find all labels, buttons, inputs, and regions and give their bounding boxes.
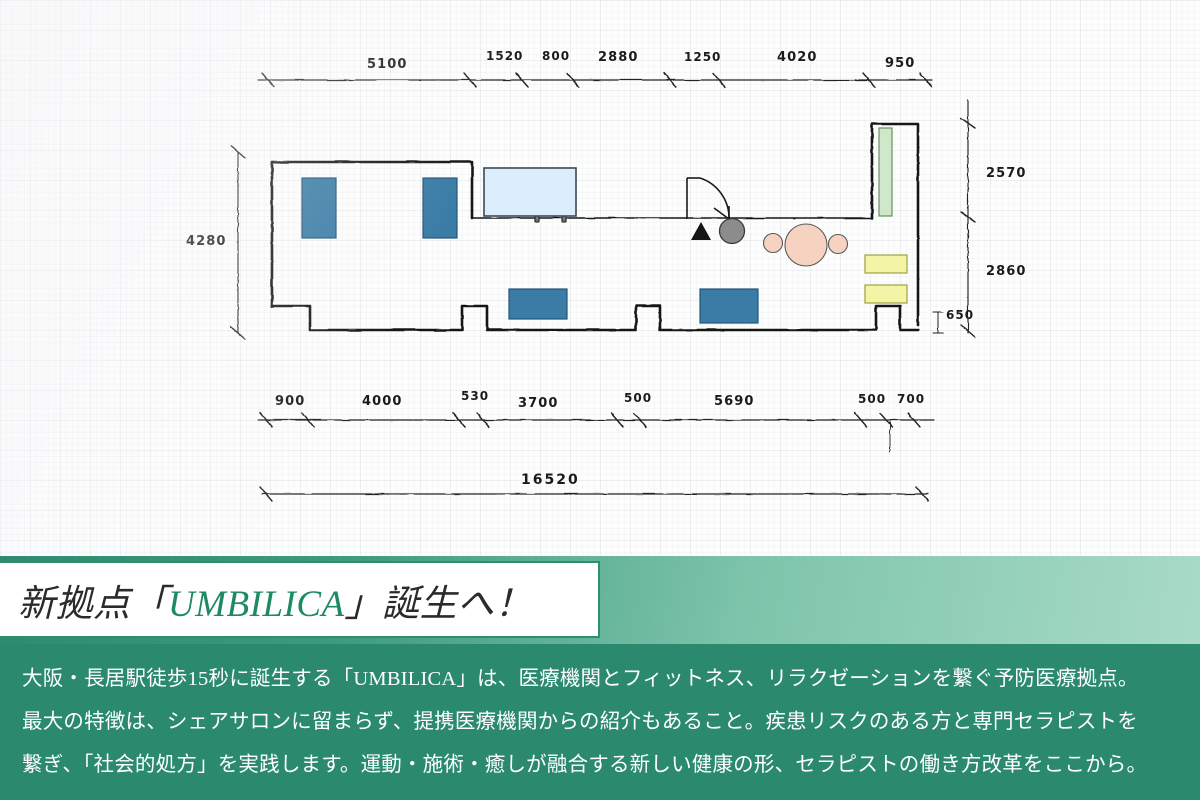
- fixture-blue-2: [423, 178, 457, 238]
- fixture-yellow-2: [865, 285, 907, 303]
- page-title: 新拠点「UMBILICA」誕生へ！: [0, 573, 532, 627]
- description-line-1: 大阪・長居駅徒歩15秒に誕生する「UMBILICA」は、医療機関とフィットネス、…: [22, 658, 1178, 701]
- dim-overall-16520: 16520: [521, 472, 580, 488]
- triangle-marker-icon: [691, 222, 711, 240]
- dim-bottom-4000: 4000: [362, 394, 403, 409]
- dim-left-4280: 4280: [186, 234, 227, 249]
- fixture-glass-counter: [484, 168, 576, 216]
- dim-right-2860: 2860: [986, 264, 1027, 279]
- description-line-2: 最大の特徴は、シェアサロンに留まらず、提携医療機関からの紹介もあること。疾患リス…: [22, 701, 1178, 744]
- right-dimension-line: [933, 100, 975, 337]
- headline-prefix: 新拠点「: [18, 584, 168, 625]
- dim-top-1250: 1250: [684, 50, 721, 64]
- fixture-peach-left: [764, 234, 783, 253]
- wall-outline: [272, 124, 918, 330]
- dim-bottom-900: 900: [275, 394, 305, 409]
- left-dimension-line: [231, 146, 245, 339]
- description-line-3: 繋ぎ、「社会的処方」を実践します。運動・施術・癒しが融合する新しい健康の形、セラ…: [22, 744, 1178, 787]
- description-band: 大阪・長居駅徒歩15秒に誕生する「UMBILICA」は、医療機関とフィットネス、…: [0, 644, 1200, 800]
- bottom-dimension-line: [258, 413, 934, 452]
- promotional-graphic: 5100 1520 800 2880 1250 4020 950 900 400…: [0, 0, 1200, 800]
- dim-top-2880: 2880: [598, 50, 639, 65]
- dim-right-2570: 2570: [986, 166, 1027, 181]
- fixture-yellow-1: [865, 255, 907, 273]
- dim-top-800: 800: [542, 49, 570, 63]
- dim-top-4020: 4020: [777, 50, 818, 65]
- dim-bottom-700: 700: [897, 392, 925, 406]
- door-swing-icon: [687, 178, 729, 219]
- fixture-blue-1: [302, 178, 336, 238]
- dim-right-650: 650: [946, 308, 974, 322]
- dim-top-5100: 5100: [367, 57, 408, 72]
- headline-suffix: 」誕生へ！: [345, 584, 533, 625]
- dim-bottom-5690: 5690: [714, 394, 755, 409]
- fixture-peach-right: [829, 235, 848, 254]
- floor-plan-sheet: 5100 1520 800 2880 1250 4020 950 900 400…: [0, 0, 1200, 556]
- dim-bottom-500-b: 500: [858, 392, 886, 406]
- overall-dimension-line: [260, 487, 928, 501]
- dim-top-950: 950: [885, 56, 915, 71]
- dim-bottom-530: 530: [461, 389, 489, 403]
- top-dimension-line: [258, 73, 932, 87]
- dim-bottom-3700: 3700: [518, 396, 559, 411]
- fixture-blue-4: [700, 289, 758, 323]
- fixture-blue-3: [509, 289, 567, 319]
- headline-box: 新拠点「UMBILICA」誕生へ！: [0, 561, 600, 638]
- headline-brand: UMBILICA: [168, 584, 345, 625]
- dim-bottom-500: 500: [624, 391, 652, 405]
- fixture-green-panel: [879, 128, 892, 216]
- dim-top-1520: 1520: [486, 49, 523, 63]
- fixture-peach-main: [785, 224, 827, 266]
- fixture-gray-circle: [720, 219, 745, 244]
